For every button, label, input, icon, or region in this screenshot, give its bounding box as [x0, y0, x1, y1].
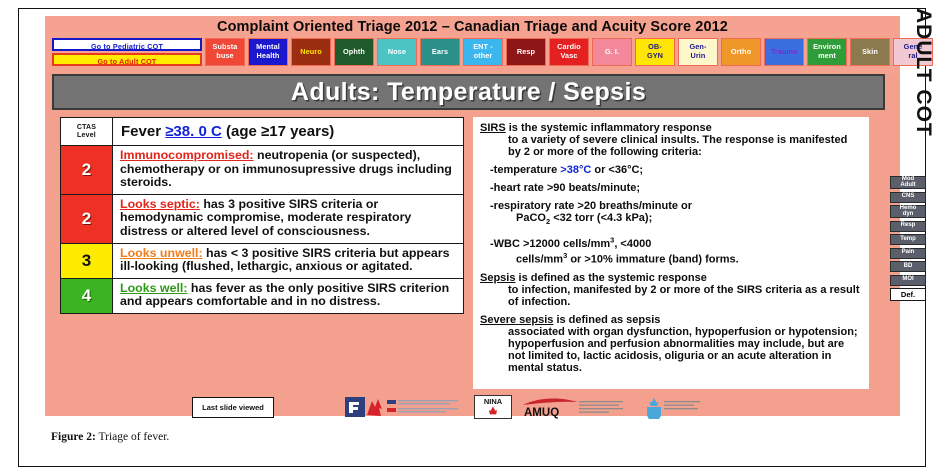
system-button-ent-other[interactable]: ENT -other [463, 38, 503, 66]
last-slide-viewed-button[interactable]: Last slide viewed [192, 397, 274, 418]
table-row: 3Looks unwell: has < 3 positive SIRS cri… [61, 244, 463, 279]
sirs-term: SIRS [480, 122, 506, 134]
sepsis-definition: Sepsis is defined as the systemic respon… [480, 272, 861, 308]
page-title: Adults: Temperature / Sepsis [291, 78, 646, 107]
criterion-subline: PaCO2 <32 torr (<4.3 kPa); [490, 212, 861, 228]
severe-sepsis-definition: Severe sepsis is defined as sepsis assoc… [480, 314, 861, 374]
system-button-skin[interactable]: Skin [850, 38, 890, 66]
side-button-bd[interactable]: BD [890, 261, 926, 272]
system-button-neuro[interactable]: Neuro [291, 38, 331, 66]
triage-table-body: 2Immunocompromised: neutropenia (or susp… [61, 146, 463, 313]
sirs-criterion: -temperature >38°C or <36°C; [480, 164, 861, 176]
system-button-label: Ears [432, 48, 448, 57]
side-button-pain[interactable]: Pain [890, 248, 926, 259]
system-button-label: Environment [813, 43, 841, 60]
system-button-ob-gyn[interactable]: OB-GYN [635, 38, 675, 66]
table-row: 4Looks well: has fever as the only posit… [61, 279, 463, 313]
caep-amuq-logo-glyph [345, 395, 465, 419]
criteria-lead-term: Looks septic: [120, 197, 200, 211]
criterion-text: -heart rate >90 beats/minute; [490, 182, 640, 194]
system-button-ears[interactable]: Ears [420, 38, 460, 66]
cps-logo-glyph [640, 395, 726, 419]
cps-logo [640, 395, 726, 419]
triage-criteria-cell: Looks septic: has 3 positive SIRS criter… [113, 195, 463, 243]
triage-table: CTAS Level Fever ≥38. 0 C (age ≥17 years… [60, 117, 464, 314]
ctas-level-header: CTAS Level [61, 118, 113, 145]
side-button-group: ModAdultCNSHemodynRespTempPainBDMOIDef. [890, 176, 928, 301]
system-button-environ-ment[interactable]: Environment [807, 38, 847, 66]
table-header-row: CTAS Level Fever ≥38. 0 C (age ≥17 years… [61, 118, 463, 146]
side-button-moi[interactable]: MOI [890, 275, 926, 286]
system-button-label: Resp [517, 48, 535, 57]
ctas-header-line1: CTAS [77, 124, 96, 132]
side-button-mod[interactable]: ModAdult [890, 176, 926, 189]
sirs-criterion: -WBC >12000 cells/mm3, <4000cells/mm3 or… [480, 234, 861, 265]
presentation-slide: Complaint Oriented Triage 2012 – Canadia… [45, 16, 900, 416]
severe-sepsis-text: is defined as sepsis [553, 314, 660, 326]
table-row: 2Immunocompromised: neutropenia (or susp… [61, 146, 463, 195]
sirs-continuation: to a variety of severe clinical insults.… [480, 134, 861, 158]
system-button-ophth[interactable]: Ophth [334, 38, 374, 66]
figure-frame: Complaint Oriented Triage 2012 – Canadia… [18, 8, 926, 467]
system-button-label: Skin [862, 48, 878, 57]
body-system-button-group: SubstabuseMentalHealthNeuroOphthNoseEars… [205, 38, 933, 66]
system-button-g-i[interactable]: G. I. [592, 38, 632, 66]
ctas-header-line2: Level [77, 132, 96, 140]
system-button-label: Gen-Urin [689, 43, 706, 60]
go-to-adult-cot-button[interactable]: Go to Adult COT [52, 53, 202, 66]
sirs-text: is the systemic inflammatory response [506, 122, 712, 134]
severe-sepsis-term: Severe sepsis [480, 314, 553, 326]
definitions-panel: SIRS is the systemic inflammatory respon… [473, 117, 869, 389]
criteria-lead-term: Looks unwell: [120, 246, 203, 260]
system-button-cardio-vasc[interactable]: CardioVasc [549, 38, 589, 66]
system-button-label: MentalHealth [256, 43, 280, 60]
system-button-gen-urin[interactable]: Gen-Urin [678, 38, 718, 66]
system-button-substa-buse[interactable]: Substabuse [205, 38, 245, 66]
criterion-highlight: >38°C [560, 164, 591, 176]
system-button-label: Nose [388, 48, 406, 57]
nina-logo-glyph: NINA [474, 395, 512, 419]
triage-criteria-cell: Immunocompromised: neutropenia (or suspe… [113, 146, 463, 194]
ctas-level-cell: 2 [61, 195, 113, 243]
nina-logo: NINA [474, 395, 512, 419]
severe-sepsis-continuation: associated with organ dysfunction, hypop… [480, 326, 861, 374]
system-button-label: Ortho [731, 48, 751, 57]
side-button-def[interactable]: Def. [890, 288, 926, 301]
criteria-lead-term: Looks well: [120, 281, 187, 295]
system-button-label: OB-GYN [647, 43, 663, 60]
system-button-label: Substabuse [213, 43, 238, 60]
system-button-label: CardioVasc [557, 43, 581, 60]
svg-text:NINA: NINA [484, 397, 503, 406]
ctas-level-cell: 2 [61, 146, 113, 194]
amuq-logo: AMUQ [521, 395, 631, 419]
condition-header-threshold: ≥38. 0 C [165, 123, 222, 140]
navigation-button-row: Go to Pediatric COT Go to Adult COT Subs… [52, 38, 933, 70]
svg-text:AMUQ: AMUQ [524, 407, 559, 419]
sepsis-continuation: to infection, manifested by 2 or more of… [480, 284, 861, 308]
triage-criteria-cell: Looks well: has fever as the only positi… [113, 279, 463, 313]
sepsis-term: Sepsis [480, 272, 515, 284]
ctas-level-cell: 4 [61, 279, 113, 313]
triage-criteria-cell: Looks unwell: has < 3 positive SIRS crit… [113, 244, 463, 278]
sirs-criterion: -respiratory rate >20 breaths/minute orP… [480, 200, 861, 228]
side-button-resp[interactable]: Resp [890, 221, 926, 232]
system-button-ortho[interactable]: Ortho [721, 38, 761, 66]
go-to-pediatric-cot-button[interactable]: Go to Pediatric COT [52, 38, 202, 51]
condition-header-prefix: Fever [121, 123, 165, 140]
criterion-subline: cells/mm3 or >10% immature (band) forms. [490, 250, 861, 266]
caep-amuq-logo [345, 395, 465, 419]
sirs-criterion: -heart rate >90 beats/minute; [480, 182, 861, 194]
condition-header: Fever ≥38. 0 C (age ≥17 years) [113, 118, 463, 145]
system-button-label: Trauma [771, 48, 798, 57]
side-button-cns[interactable]: CNS [890, 192, 926, 203]
cot-nav-group: Go to Pediatric COT Go to Adult COT [52, 38, 202, 66]
table-row: 2Looks septic: has 3 positive SIRS crite… [61, 195, 463, 244]
system-button-label: ENT -other [473, 43, 493, 60]
slide-header-bar: Complaint Oriented Triage 2012 – Canadia… [45, 16, 900, 74]
figure-caption: Figure 2: Triage of fever. [51, 431, 169, 443]
figure-caption-text: Triage of fever. [96, 431, 169, 443]
criterion-text: -respiratory rate >20 breaths/minute or [490, 200, 692, 212]
adult-cot-label: ADULT COT [911, 8, 935, 128]
criterion-text: -temperature [490, 164, 560, 176]
system-button-resp[interactable]: Resp [506, 38, 546, 66]
criteria-lead-term: Immunocompromised: [120, 148, 254, 162]
system-button-nose[interactable]: Nose [377, 38, 417, 66]
side-button-hemo[interactable]: Hemodyn [890, 205, 926, 218]
system-button-trauma[interactable]: Trauma [764, 38, 804, 66]
sirs-criteria-list: -temperature >38°C or <36°C;-heart rate … [480, 164, 861, 266]
sirs-definition: SIRS is the systemic inflammatory respon… [480, 122, 861, 158]
system-button-label: Ophth [343, 48, 365, 57]
system-button-label: G. I. [605, 48, 619, 57]
ctas-level-cell: 3 [61, 244, 113, 278]
criterion-text: -WBC >12000 cells/mm3, <4000 [490, 238, 651, 250]
figure-label: Figure 2: [51, 431, 96, 443]
system-button-mental-health[interactable]: MentalHealth [248, 38, 288, 66]
condition-header-suffix: (age ≥17 years) [222, 123, 334, 140]
criterion-suffix: or <36°C; [591, 164, 643, 176]
system-button-label: Neuro [300, 48, 322, 57]
sepsis-text: is defined as the systemic response [515, 272, 706, 284]
amuq-logo-glyph: AMUQ [521, 395, 631, 419]
slide-title-band: Adults: Temperature / Sepsis [52, 74, 885, 110]
side-button-temp[interactable]: Temp [890, 234, 926, 245]
logo-row: NINA AMUQ [345, 394, 865, 420]
slide-header-title: Complaint Oriented Triage 2012 – Canadia… [45, 19, 900, 35]
